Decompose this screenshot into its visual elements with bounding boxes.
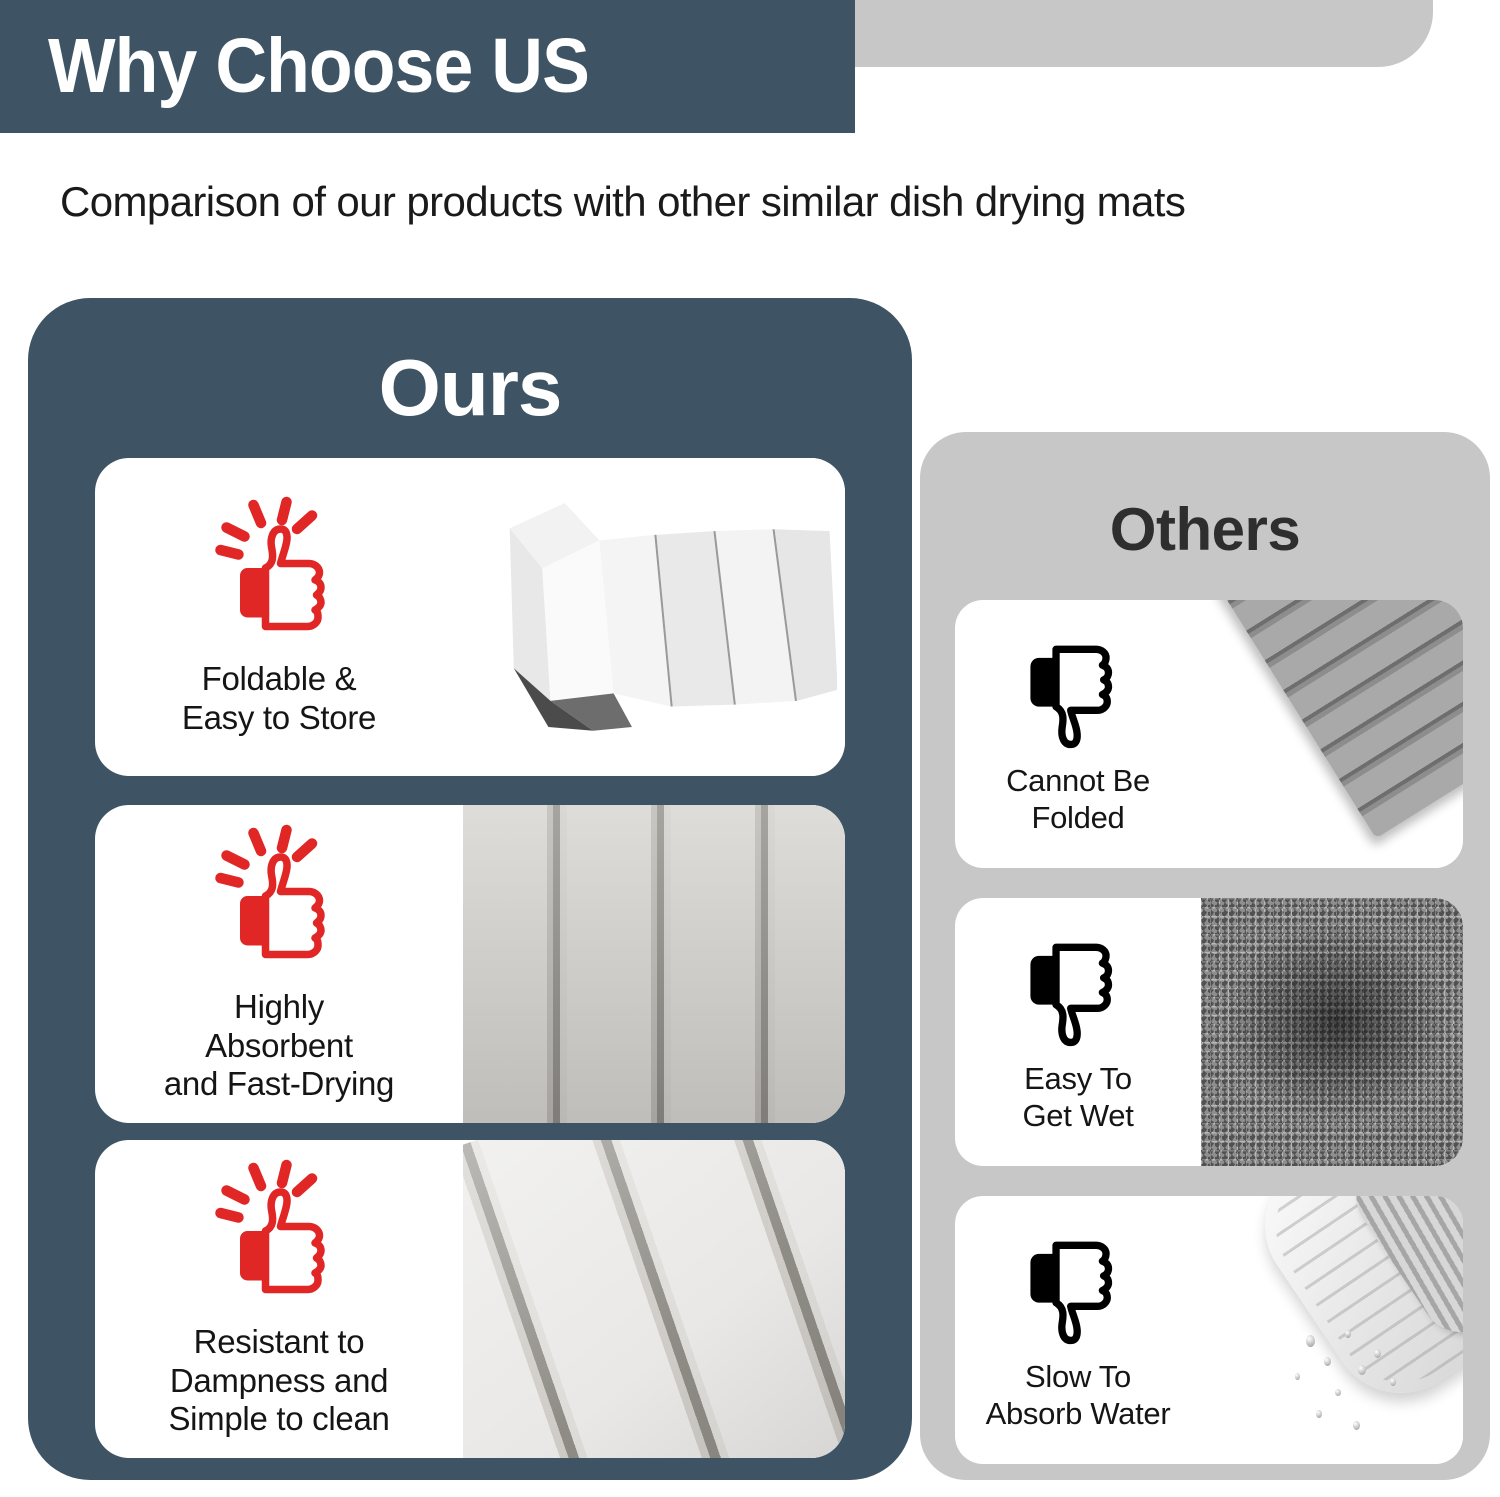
others-drawback-card: Cannot Be Folded xyxy=(955,600,1463,868)
caption-line: Dampness and xyxy=(168,1362,389,1401)
card-left-column: Easy To Get Wet xyxy=(955,898,1201,1166)
thumbs-up-icon xyxy=(204,824,354,974)
thumbs-down-icon xyxy=(1017,929,1139,1051)
caption-line: Cannot Be xyxy=(1006,763,1150,800)
thumbs-up-icon xyxy=(204,1159,354,1309)
thumbs-up-icon xyxy=(204,496,354,646)
card-caption: Highly Absorbent and Fast-Drying xyxy=(164,988,394,1105)
ours-panel-title: Ours xyxy=(28,348,912,428)
card-left-column: Foldable & Easy to Store xyxy=(95,458,463,776)
thumbs-down-icon xyxy=(1017,1227,1139,1349)
card-caption: Foldable & Easy to Store xyxy=(182,660,376,738)
card-caption: Resistant to Dampness and Simple to clea… xyxy=(168,1323,389,1440)
caption-line: and Fast-Drying xyxy=(164,1065,394,1104)
caption-line: Absorbent xyxy=(164,1027,394,1066)
ours-feature-card: Highly Absorbent and Fast-Drying xyxy=(95,805,845,1123)
caption-line: Absorb Water xyxy=(986,1396,1171,1433)
card-left-column: Cannot Be Folded xyxy=(955,600,1201,868)
flat-ridged-mat-photo xyxy=(1201,600,1463,868)
header-banner: Why Choose US xyxy=(0,0,855,133)
thumbs-down-icon xyxy=(1017,631,1139,753)
card-caption: Cannot Be Folded xyxy=(1006,763,1150,836)
page-title: Why Choose US xyxy=(48,28,589,105)
ours-feature-card: Resistant to Dampness and Simple to clea… xyxy=(95,1140,845,1458)
caption-line: Highly xyxy=(164,988,394,1027)
others-drawback-card: Slow To Absorb Water xyxy=(955,1196,1463,1464)
caption-line: Easy to Store xyxy=(182,699,376,738)
card-left-column: Slow To Absorb Water xyxy=(955,1196,1201,1464)
caption-line: Get Wet xyxy=(1022,1098,1133,1135)
folded-mat-photo xyxy=(463,458,845,776)
silicone-mat-water-photo xyxy=(1201,1196,1463,1464)
caption-line: Folded xyxy=(1006,800,1150,837)
card-caption: Slow To Absorb Water xyxy=(986,1359,1171,1432)
others-panel-title: Others xyxy=(920,500,1490,560)
caption-line: Simple to clean xyxy=(168,1400,389,1439)
caption-line: Slow To xyxy=(986,1359,1171,1396)
card-left-column: Resistant to Dampness and Simple to clea… xyxy=(95,1140,463,1458)
grooved-surface-photo xyxy=(463,805,845,1123)
angled-surface-photo xyxy=(463,1140,845,1458)
subheadline: Comparison of our products with other si… xyxy=(60,178,1420,226)
ours-feature-card: Foldable & Easy to Store xyxy=(95,458,845,776)
card-left-column: Highly Absorbent and Fast-Drying xyxy=(95,805,463,1123)
card-caption: Easy To Get Wet xyxy=(1022,1061,1133,1134)
caption-line: Foldable & xyxy=(182,660,376,699)
caption-line: Resistant to xyxy=(168,1323,389,1362)
wet-microfiber-photo xyxy=(1201,898,1463,1166)
header-accent-bar xyxy=(855,0,1433,67)
caption-line: Easy To xyxy=(1022,1061,1133,1098)
others-drawback-card: Easy To Get Wet xyxy=(955,898,1463,1166)
